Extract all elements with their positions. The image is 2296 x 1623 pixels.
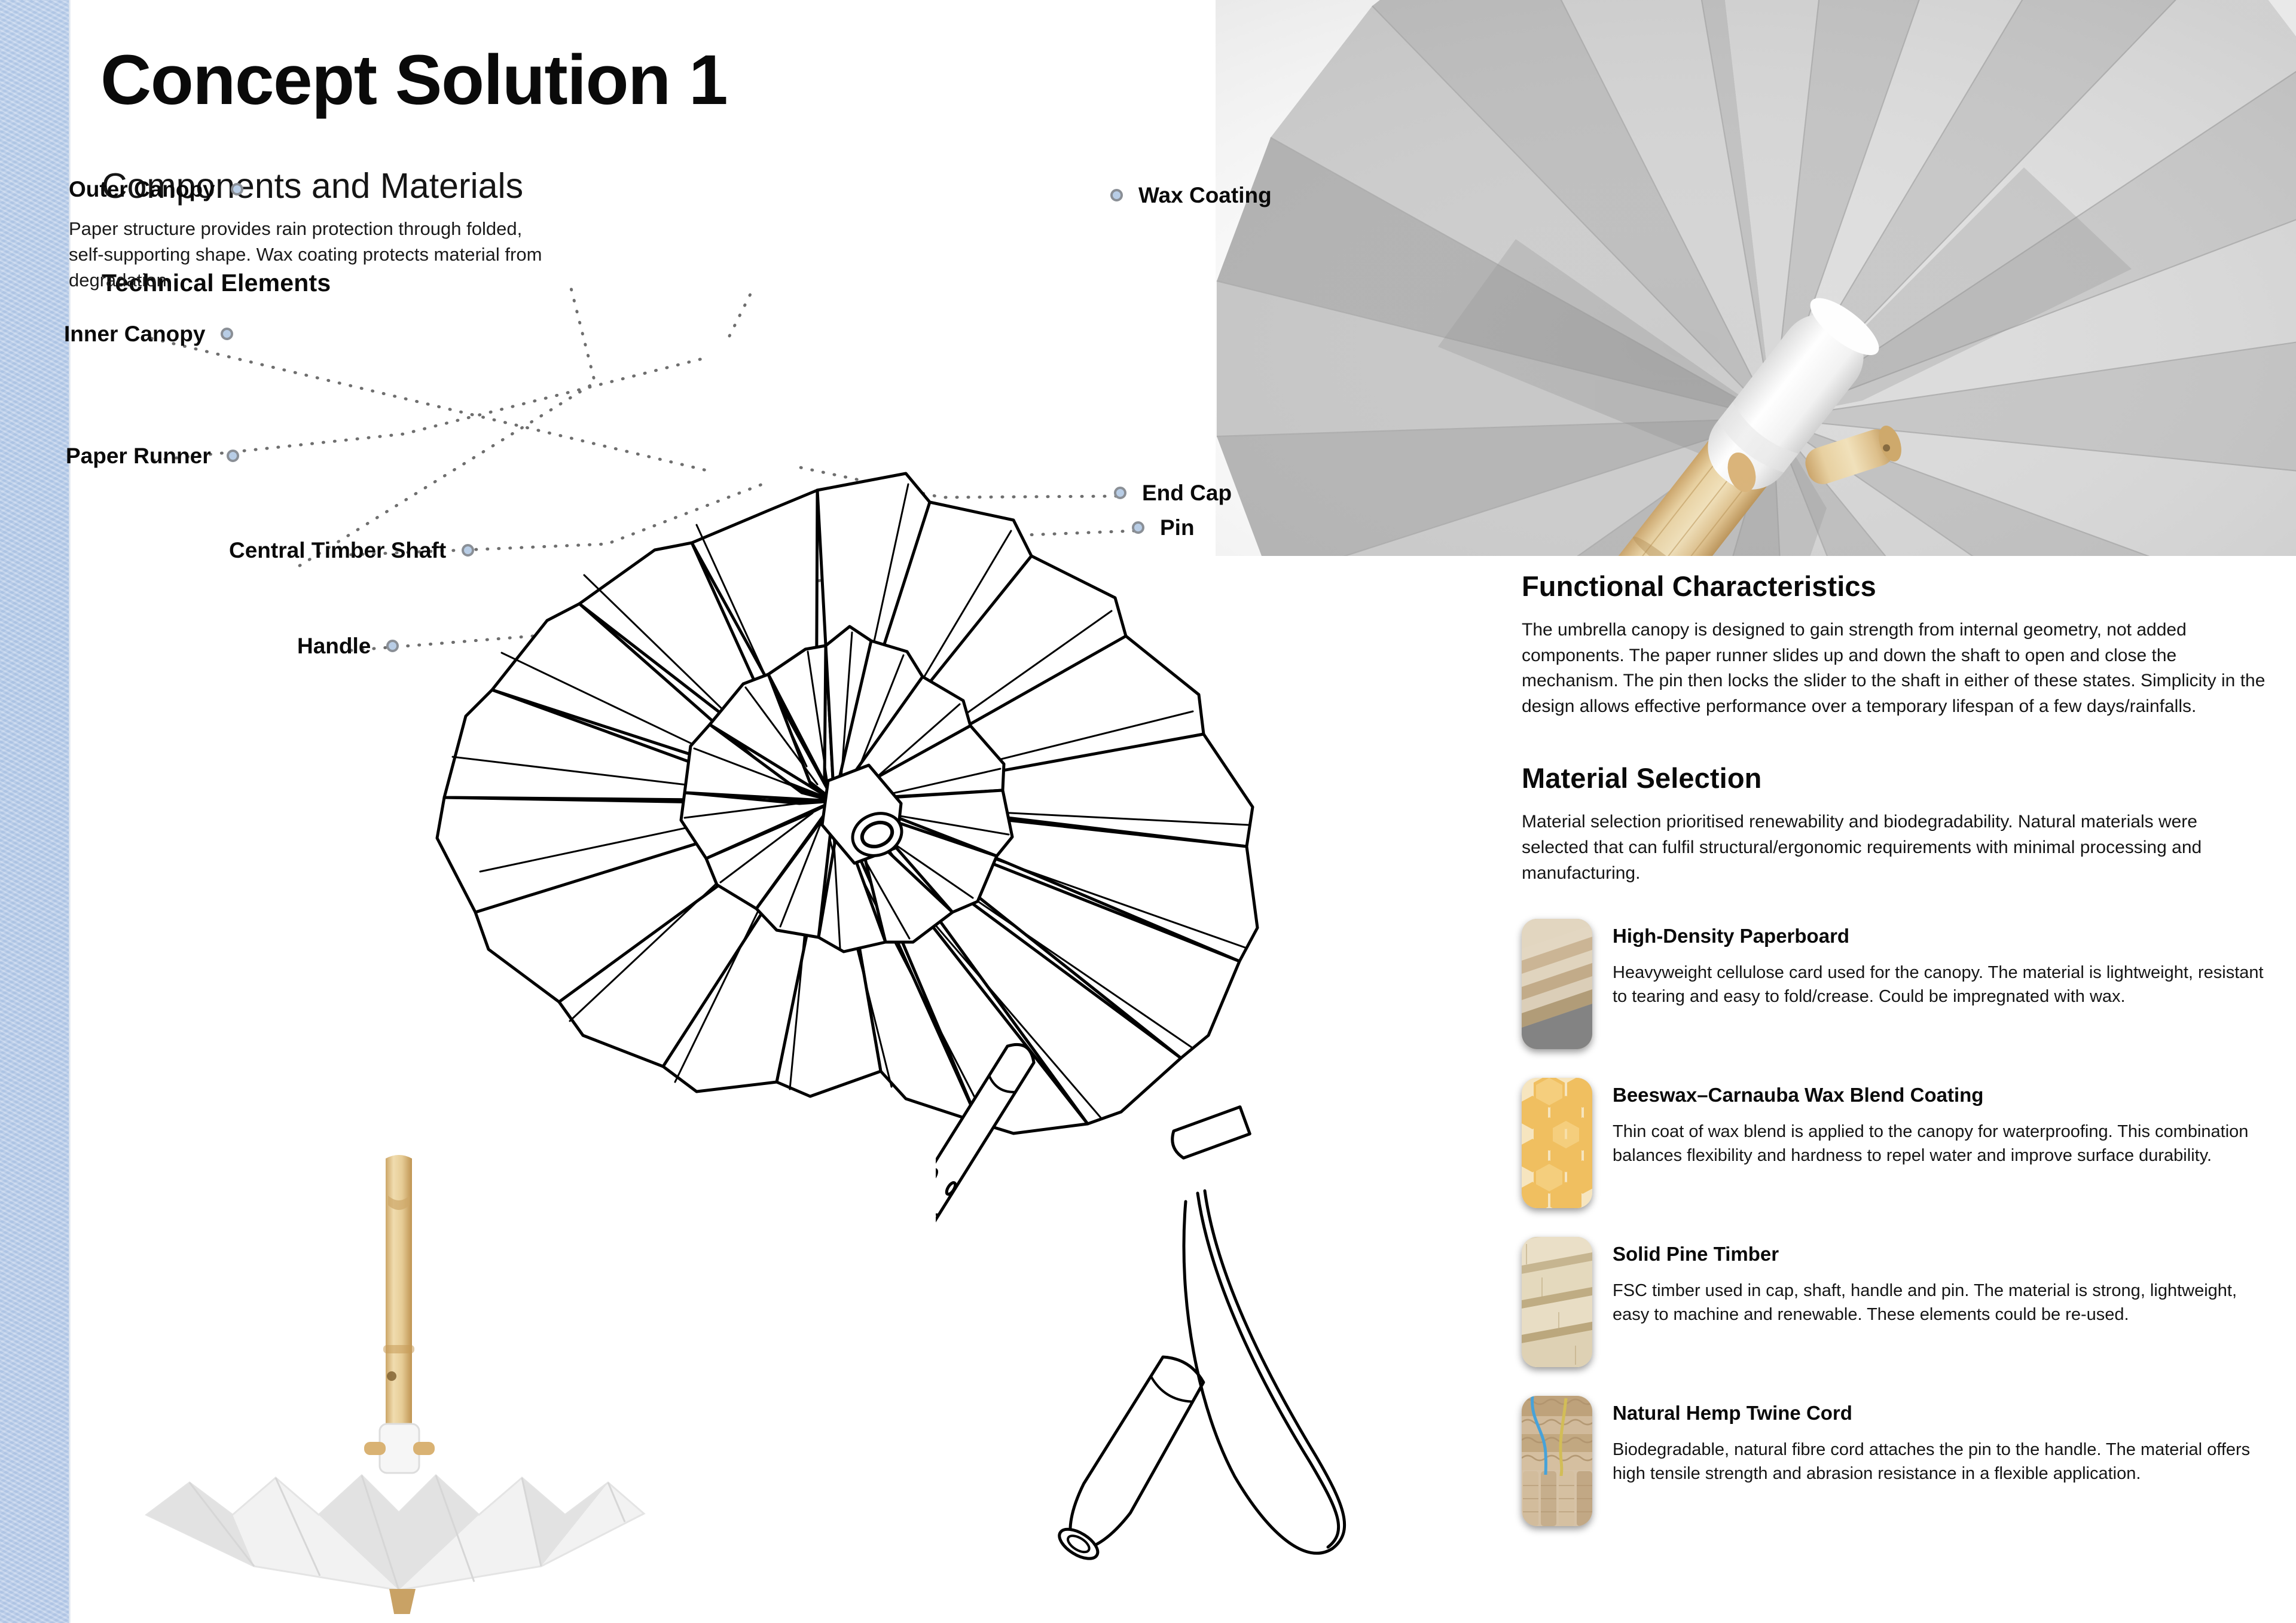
annotation-label: Handle xyxy=(297,635,371,657)
leader-dot-icon xyxy=(386,640,399,652)
material-card[interactable]: Beeswax–Carnauba Wax Blend Coating Thin … xyxy=(1522,1078,2266,1208)
left-accent-band xyxy=(0,0,69,1623)
annotation-label: Outer Canopy xyxy=(69,178,215,200)
material-card-list: High-Density Paperboard Heavyweight cell… xyxy=(1522,919,2266,1526)
annotation-label: Wax Coating xyxy=(1138,184,1272,206)
annotation-paper-runner[interactable]: Paper Runner xyxy=(66,445,239,467)
annotation-label: Paper Runner xyxy=(66,445,211,467)
material-card[interactable]: Natural Hemp Twine Cord Biodegradable, n… xyxy=(1522,1396,2266,1526)
annotation-label: Pin xyxy=(1160,516,1195,539)
material-card-text: High-Density Paperboard Heavyweight cell… xyxy=(1613,919,2266,1009)
material-card-text: Natural Hemp Twine Cord Biodegradable, n… xyxy=(1613,1396,2266,1486)
leader-dot-icon xyxy=(221,328,233,340)
material-selection-body: Material selection prioritised renewabil… xyxy=(1522,809,2266,887)
annotation-outer-canopy-body: Paper structure provides rain protection… xyxy=(69,216,559,293)
leader-dot-icon xyxy=(231,183,243,195)
honeycomb-wax-icon xyxy=(1522,1078,1592,1208)
paperboard-stack-thumbnail xyxy=(1522,919,1592,1049)
material-title: High-Density Paperboard xyxy=(1613,925,2266,947)
hemp-rope-coils-icon xyxy=(1522,1396,1592,1526)
inverted-umbrella-render xyxy=(123,1148,661,1614)
annotation-pin[interactable]: Pin xyxy=(1132,516,1195,539)
material-selection-heading: Material Selection xyxy=(1522,763,2266,794)
pine-timber-planks-thumbnail xyxy=(1522,1237,1592,1367)
hemp-rope-coils-thumbnail xyxy=(1522,1396,1592,1526)
annotation-label: Inner Canopy xyxy=(64,323,205,345)
leader-dot-icon xyxy=(1132,521,1144,534)
pine-timber-planks-icon xyxy=(1522,1237,1592,1367)
annotation-central-timber-shaft[interactable]: Central Timber Shaft xyxy=(229,539,474,561)
material-description: Thin coat of wax blend is applied to the… xyxy=(1613,1120,2266,1168)
section-spacer xyxy=(1522,720,2266,763)
leader-dot-icon xyxy=(227,450,239,462)
technical-drawing-area: Outer Canopy Paper structure provides ra… xyxy=(69,287,1522,1623)
material-card-text: Solid Pine Timber FSC timber used in cap… xyxy=(1613,1237,2266,1327)
honeycomb-wax-thumbnail xyxy=(1522,1078,1592,1208)
annotation-inner-canopy[interactable]: Inner Canopy xyxy=(64,323,233,345)
right-information-column: Functional Characteristics The umbrella … xyxy=(1522,571,2266,1555)
shaft-handle-line-drawing xyxy=(936,1022,1474,1608)
leader-dot-icon xyxy=(1114,487,1126,499)
annotation-wax-coating[interactable]: Wax Coating xyxy=(1110,184,1272,206)
material-card[interactable]: High-Density Paperboard Heavyweight cell… xyxy=(1522,919,2266,1049)
annotation-label: End Cap xyxy=(1142,482,1232,504)
paperboard-stack-icon xyxy=(1522,919,1592,1049)
leader-dot-icon xyxy=(462,544,474,557)
annotation-handle[interactable]: Handle xyxy=(297,635,399,657)
material-description: FSC timber used in cap, shaft, handle an… xyxy=(1613,1279,2266,1327)
material-description: Biodegradable, natural fibre cord attach… xyxy=(1613,1438,2266,1486)
leader-dot-icon xyxy=(1110,189,1123,201)
material-title: Beeswax–Carnauba Wax Blend Coating xyxy=(1613,1084,2266,1107)
material-title: Natural Hemp Twine Cord xyxy=(1613,1402,2266,1425)
annotation-outer-canopy[interactable]: Outer Canopy xyxy=(69,178,243,200)
material-description: Heavyweight cellulose card used for the … xyxy=(1613,961,2266,1009)
material-card[interactable]: Solid Pine Timber FSC timber used in cap… xyxy=(1522,1237,2266,1367)
annotation-end-cap[interactable]: End Cap xyxy=(1114,482,1232,504)
annotation-label: Central Timber Shaft xyxy=(229,539,446,561)
material-card-text: Beeswax–Carnauba Wax Blend Coating Thin … xyxy=(1613,1078,2266,1168)
page-title: Concept Solution 1 xyxy=(100,45,727,115)
material-title: Solid Pine Timber xyxy=(1613,1243,2266,1266)
functional-characteristics-body: The umbrella canopy is designed to gain … xyxy=(1522,618,2266,720)
functional-characteristics-heading: Functional Characteristics xyxy=(1522,571,2266,602)
